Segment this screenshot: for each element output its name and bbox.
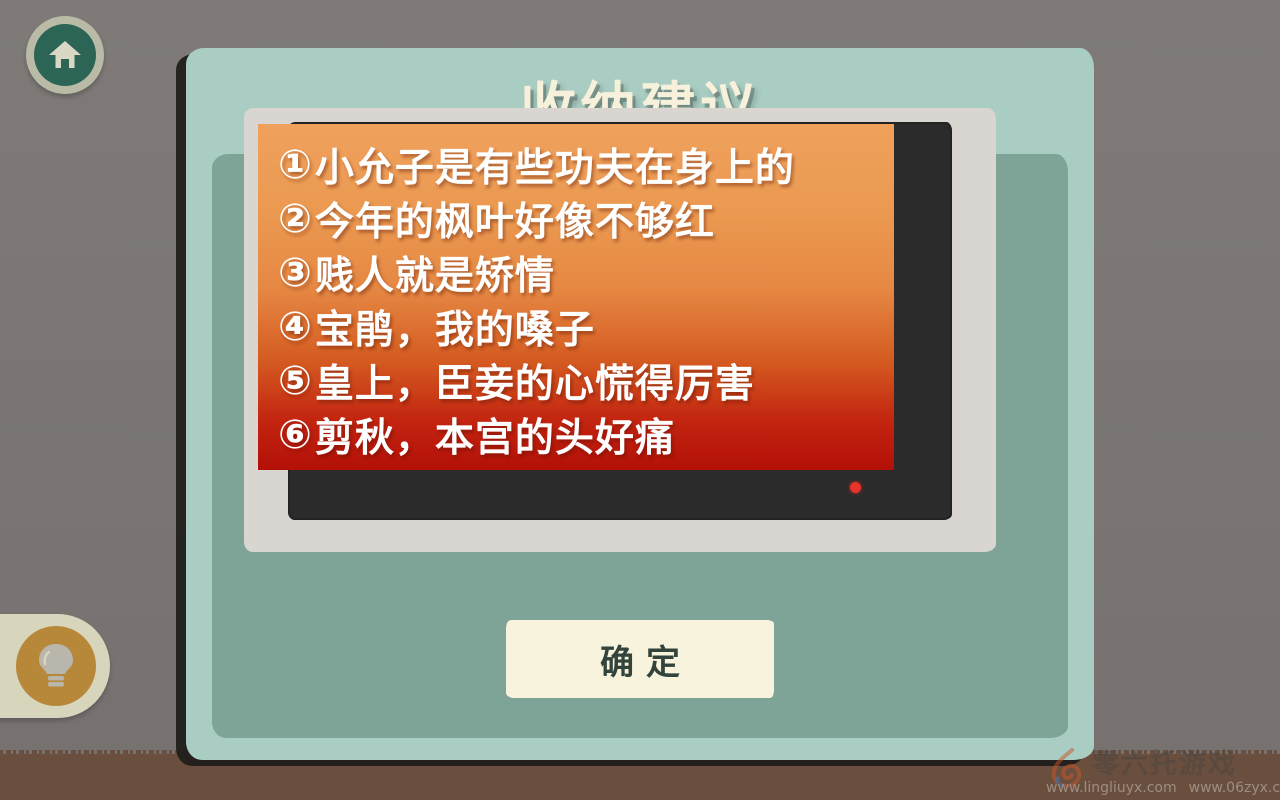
- list-item-number: ①: [278, 142, 313, 188]
- list-item-number: ④: [278, 304, 313, 350]
- list-item-text: 贱人就是矫情: [315, 245, 555, 301]
- watermark-brand: 零六托游戏: [1092, 742, 1237, 781]
- tv-widget: ① 小允子是有些功夫在身上的 ② 今年的枫叶好像不够红 ③ 贱人就是矫情 ④ 宝…: [244, 108, 996, 552]
- tv-power-led: [850, 482, 861, 493]
- list-item-number: ③: [278, 250, 313, 296]
- confirm-button-label: 确定: [506, 620, 774, 698]
- list-item-number: ②: [278, 196, 313, 242]
- list-item-text: 皇上，臣妾的心慌得厉害: [315, 353, 755, 409]
- watermark-url: www.06zyx.com: [1189, 780, 1280, 796]
- confirm-button[interactable]: 确定: [506, 620, 774, 698]
- hint-button[interactable]: [0, 614, 110, 718]
- home-button[interactable]: [26, 16, 104, 94]
- list-item-number: ⑥: [278, 412, 313, 458]
- watermark-urls: www.lingliuyx.com www.06zyx.com: [1046, 780, 1280, 796]
- tv-screen: ① 小允子是有些功夫在身上的 ② 今年的枫叶好像不够红 ③ 贱人就是矫情 ④ 宝…: [258, 124, 894, 470]
- list-item: ③ 贱人就是矫情: [278, 246, 884, 300]
- list-item-text: 小允子是有些功夫在身上的: [315, 137, 795, 193]
- watermark: 零六托游戏 www.lingliuyx.com www.06zyx.com: [1044, 740, 1276, 798]
- list-item-text: 今年的枫叶好像不够红: [315, 191, 715, 247]
- lightbulb-icon: [36, 642, 76, 690]
- list-item: ① 小允子是有些功夫在身上的: [278, 138, 884, 192]
- list-item: ⑥ 剪秋，本宫的头好痛: [278, 408, 884, 462]
- list-item: ④ 宝鹃，我的嗓子: [278, 300, 884, 354]
- suggestion-list: ① 小允子是有些功夫在身上的 ② 今年的枫叶好像不够红 ③ 贱人就是矫情 ④ 宝…: [278, 138, 884, 462]
- suggestion-dialog: 收纳建议 ① 小允子是有些功夫在身上的 ② 今年的枫叶好像不够红 ③: [186, 48, 1094, 760]
- list-item-number: ⑤: [278, 358, 313, 404]
- game-screen: 收纳建议 ① 小允子是有些功夫在身上的 ② 今年的枫叶好像不够红 ③: [0, 0, 1280, 800]
- watermark-url: www.lingliuyx.com: [1046, 780, 1177, 796]
- list-item: ② 今年的枫叶好像不够红: [278, 192, 884, 246]
- list-item-text: 剪秋，本宫的头好痛: [315, 407, 675, 463]
- list-item: ⑤ 皇上，臣妾的心慌得厉害: [278, 354, 884, 408]
- home-icon: [47, 37, 83, 73]
- list-item-text: 宝鹃，我的嗓子: [315, 299, 595, 355]
